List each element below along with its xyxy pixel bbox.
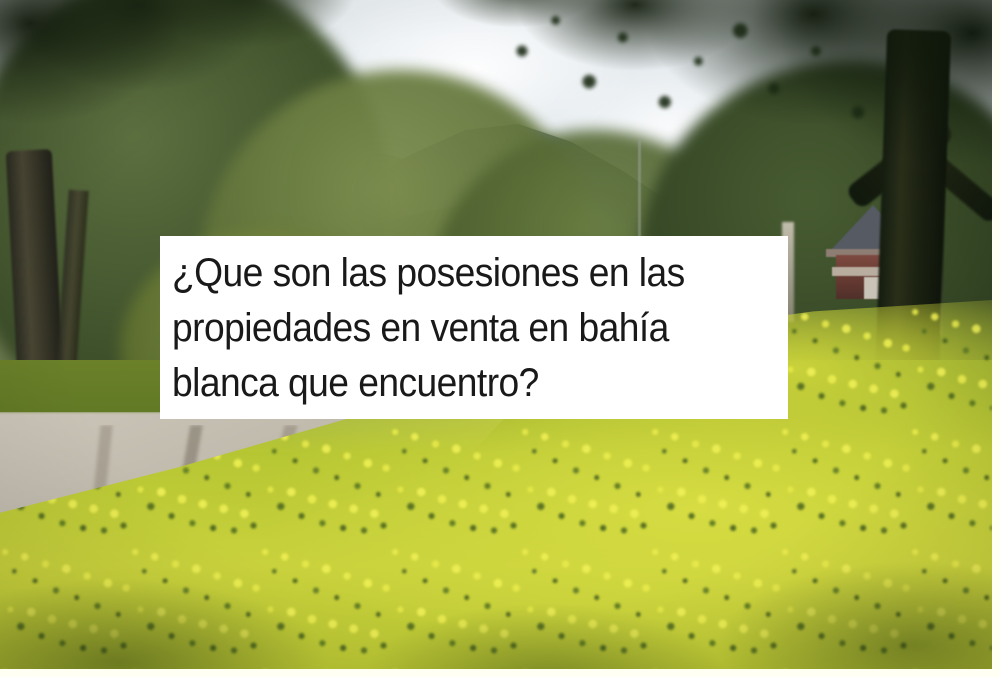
right-edge-border xyxy=(992,0,1000,677)
bottom-edge-border xyxy=(0,669,1000,677)
caption-line-3: blanca que encuentro? xyxy=(172,356,745,411)
screenshot-root: ¿Que son las posesiones en las propiedad… xyxy=(0,0,1000,677)
caption-line-2: propiedades en venta en bahía xyxy=(172,301,745,356)
caption-overlay-box: ¿Que son las posesiones en las propiedad… xyxy=(160,236,788,419)
canopy-leaf-speckle xyxy=(480,0,900,170)
caption-line-1: ¿Que son las posesiones en las xyxy=(172,246,745,301)
